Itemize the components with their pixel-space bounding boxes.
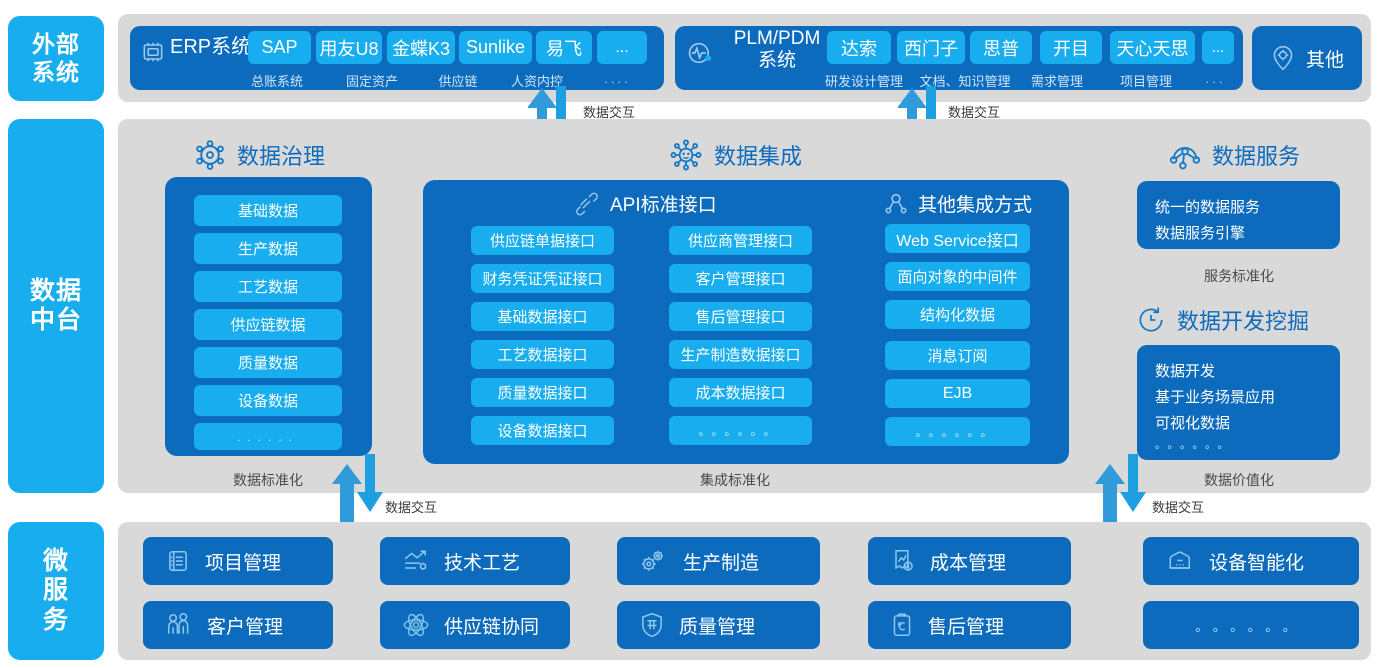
plm-sublabel-rd-design: 研发设计管理 xyxy=(818,71,910,90)
api-standard-interface-title-group: API标准接口 xyxy=(573,190,717,217)
governance-item-more[interactable]: ...... xyxy=(194,423,342,450)
microservice-label: 设备智能化 xyxy=(1209,548,1304,575)
api-interface-manufacturing[interactable]: 生产制造数据接口 xyxy=(669,340,812,369)
data-dev-item-scenario-app: 基于业务场景应用 xyxy=(1155,385,1340,411)
integration-method-web-service[interactable]: Web Service接口 xyxy=(885,224,1030,253)
microservice-smart-equipment[interactable]: 设备智能化 xyxy=(1143,537,1359,585)
plm-chip-tianxin[interactable]: 天心天思 xyxy=(1110,31,1195,64)
arrow-platform-to-micro-left xyxy=(330,452,390,532)
data-service-heading-group: 数据服务 xyxy=(1168,138,1300,172)
microservice-manufacturing[interactable]: 生产制造 xyxy=(617,537,820,585)
integration-method-message-subscribe[interactable]: 消息订阅 xyxy=(885,341,1030,370)
other-methods-title: 其他集成方式 xyxy=(918,190,1032,217)
erp-sublabel-general-ledger: 总账系统 xyxy=(227,71,327,90)
microservice-label: 技术工艺 xyxy=(444,548,520,575)
integration-method-ejb[interactable]: EJB xyxy=(885,379,1030,408)
plm-system-title: PLM/PDM 系统 xyxy=(718,28,836,72)
integration-footer: 集成标准化 xyxy=(685,470,785,490)
node-link-icon xyxy=(883,191,909,217)
row-tab-micro-line-2: 服 xyxy=(43,576,69,606)
governance-item-production-data[interactable]: 生产数据 xyxy=(194,233,342,264)
people-icon xyxy=(165,611,193,639)
arrow-label-left-exchange: 数据交互 xyxy=(385,497,437,516)
other-methods-title-group: 其他集成方式 xyxy=(883,190,1032,217)
erp-chip-more[interactable]: ... xyxy=(597,31,647,64)
return-doc-icon xyxy=(890,611,914,639)
microservice-label: 客户管理 xyxy=(207,612,283,639)
api-interface-supplier-mgmt[interactable]: 供应商管理接口 xyxy=(669,226,812,255)
gear-network-icon xyxy=(193,138,227,172)
service-graph-icon xyxy=(1168,138,1202,172)
plm-chip-kaimu[interactable]: 开目 xyxy=(1040,31,1102,64)
microservice-aftersales-management[interactable]: 售后管理 xyxy=(868,601,1071,649)
gear-pin-icon xyxy=(1270,44,1296,72)
row-tab-micro-line-1: 微 xyxy=(43,547,69,577)
api-interface-finance-voucher[interactable]: 财务凭证凭证接口 xyxy=(471,264,614,293)
plm-chip-siemens[interactable]: 西门子 xyxy=(897,31,965,64)
governance-item-basic-data[interactable]: 基础数据 xyxy=(194,195,342,226)
data-service-card: 统一的数据服务 数据服务引擎 xyxy=(1137,181,1340,249)
erp-chip-sap[interactable]: SAP xyxy=(248,31,311,64)
row-tab-data-platform: 数据 中台 xyxy=(8,119,104,493)
api-interface-process-data[interactable]: 工艺数据接口 xyxy=(471,340,614,369)
api-interface-basic-data[interactable]: 基础数据接口 xyxy=(471,302,614,331)
external-other-box[interactable]: 其他 xyxy=(1252,26,1362,90)
plm-chip-dassault[interactable]: 达索 xyxy=(827,31,891,64)
shield-quality-icon xyxy=(639,611,665,639)
governance-heading: 数据治理 xyxy=(237,139,325,171)
microservice-label: 供应链协同 xyxy=(444,612,539,639)
microservice-label: 质量管理 xyxy=(679,612,755,639)
data-dev-item-more: 。。。。。。 xyxy=(1155,436,1340,455)
api-interface-cost-data[interactable]: 成本数据接口 xyxy=(669,378,812,407)
architecture-diagram: 外部 系统 数据 中台 微 服 务 ERP系统 SAP 用友U8 金蝶K3 Su… xyxy=(0,0,1377,668)
microservice-label: 。。。。。。 xyxy=(1195,616,1307,635)
plm-title-line-1: PLM/PDM xyxy=(734,28,821,49)
row-tab-microservices: 微 服 务 xyxy=(8,522,104,660)
microservice-technical-process[interactable]: 技术工艺 xyxy=(380,537,570,585)
erp-chip-sunlike[interactable]: Sunlike xyxy=(459,31,532,64)
row-tab-external-line-1: 外部 xyxy=(32,31,80,58)
row-tab-external-systems: 外部 系统 xyxy=(8,16,104,101)
data-service-item-unified: 统一的数据服务 xyxy=(1155,195,1340,221)
erp-chip-efei[interactable]: 易飞 xyxy=(536,31,592,64)
governance-item-supply-chain[interactable]: 供应链数据 xyxy=(194,309,342,340)
api-interface-aftersales-mgmt[interactable]: 售后管理接口 xyxy=(669,302,812,331)
microservice-label: 生产制造 xyxy=(683,548,759,575)
erp-sublabel-more: . . . . xyxy=(576,72,656,86)
api-interface-equipment-data[interactable]: 设备数据接口 xyxy=(471,416,614,445)
data-service-item-engine: 数据服务引擎 xyxy=(1155,221,1340,247)
hub-icon xyxy=(668,138,704,172)
api-standard-interface-title: API标准接口 xyxy=(610,190,717,217)
microservice-quality-management[interactable]: 质量管理 xyxy=(617,601,820,649)
microservice-project-management[interactable]: 项目管理 xyxy=(143,537,333,585)
pulse-icon xyxy=(686,39,714,67)
integration-method-oo-middleware[interactable]: 面向对象的中间件 xyxy=(885,262,1030,291)
atom-icon xyxy=(402,611,430,639)
microservice-cost-management[interactable]: 成本管理 xyxy=(868,537,1071,585)
microservice-supply-chain-collab[interactable]: 供应链协同 xyxy=(380,601,570,649)
microservice-label: 项目管理 xyxy=(205,548,281,575)
plm-sublabel-requirements: 需求管理 xyxy=(1017,71,1097,90)
governance-item-quality-data[interactable]: 质量数据 xyxy=(194,347,342,378)
api-interface-customer-mgmt[interactable]: 客户管理接口 xyxy=(669,264,812,293)
data-dev-card: 数据开发 基于业务场景应用 可视化数据 。。。。。。 xyxy=(1137,345,1340,460)
api-interface-more[interactable]: 。。。。。。 xyxy=(669,416,812,445)
row-tab-micro-line-3: 务 xyxy=(43,606,69,636)
process-chart-icon xyxy=(402,548,430,574)
gears-icon xyxy=(639,547,669,575)
governance-footer: 数据标准化 xyxy=(216,470,320,490)
erp-system-title: ERP系统 xyxy=(170,36,260,59)
plm-sublabel-project-mgmt: 项目管理 xyxy=(1106,71,1186,90)
row-tab-platform-line-1: 数据 xyxy=(30,277,82,307)
erp-sublabel-fixed-assets: 固定资产 xyxy=(322,71,422,90)
governance-item-process-data[interactable]: 工艺数据 xyxy=(194,271,342,302)
microservice-label: 成本管理 xyxy=(930,548,1006,575)
integration-heading-group: 数据集成 xyxy=(668,138,802,172)
integration-heading: 数据集成 xyxy=(714,139,802,171)
erp-chip-yonyou[interactable]: 用友U8 xyxy=(316,31,382,64)
row-tab-external-line-2: 系统 xyxy=(32,59,80,86)
microservice-more[interactable]: 。。。。。。 xyxy=(1143,601,1359,649)
microservice-label: 售后管理 xyxy=(928,612,1004,639)
erp-chip-kingdee[interactable]: 金蝶K3 xyxy=(387,31,455,64)
governance-item-equipment-data[interactable]: 设备数据 xyxy=(194,385,342,416)
data-dev-heading-group: 数据开发挖掘 xyxy=(1135,304,1309,336)
row-tab-platform-line-2: 中台 xyxy=(30,306,82,336)
integration-method-structured-data[interactable]: 结构化数据 xyxy=(885,300,1030,329)
data-dev-footer: 数据价值化 xyxy=(1187,470,1291,490)
chip-icon xyxy=(140,39,166,65)
data-dev-item-development: 数据开发 xyxy=(1155,359,1340,385)
api-interface-supply-chain-doc[interactable]: 供应链单据接口 xyxy=(471,226,614,255)
integration-method-more[interactable]: 。。。。。。 xyxy=(885,417,1030,446)
clipboard-list-icon xyxy=(165,548,191,574)
plm-sublabel-more: . . . xyxy=(1186,72,1242,86)
clock-refresh-icon xyxy=(1135,304,1167,336)
plm-chip-sipm[interactable]: 思普 xyxy=(970,31,1032,64)
governance-heading-group: 数据治理 xyxy=(193,138,325,172)
arrow-platform-to-micro-right xyxy=(1093,452,1153,532)
data-dev-item-visualization: 可视化数据 xyxy=(1155,411,1340,437)
plm-title-line-2: 系统 xyxy=(758,50,796,71)
plug-icon xyxy=(573,192,601,216)
cost-chart-icon xyxy=(890,547,916,575)
api-interface-quality-data[interactable]: 质量数据接口 xyxy=(471,378,614,407)
data-service-footer: 服务标准化 xyxy=(1189,266,1289,286)
arrow-label-right-exchange: 数据交互 xyxy=(1152,497,1204,516)
device-icon xyxy=(1165,548,1195,574)
data-dev-heading: 数据开发挖掘 xyxy=(1177,304,1309,336)
plm-chip-more[interactable]: ... xyxy=(1202,31,1234,64)
data-service-heading: 数据服务 xyxy=(1212,139,1300,171)
external-other-label: 其他 xyxy=(1306,45,1344,72)
microservice-customer-management[interactable]: 客户管理 xyxy=(143,601,333,649)
